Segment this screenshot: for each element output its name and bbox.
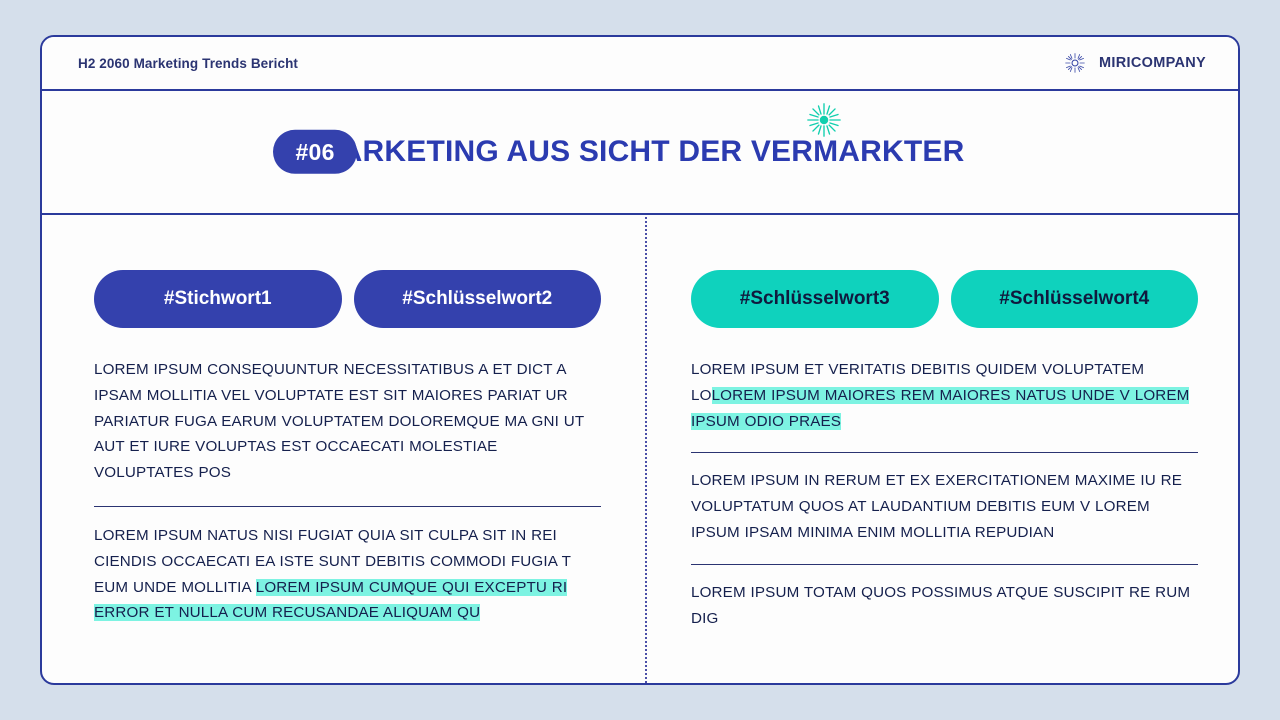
- title-group: MARKETING AUS SICHT DER VERMARKTER #06: [315, 137, 964, 167]
- tag-schluesselwort4[interactable]: #Schlüsselwort4: [951, 270, 1199, 328]
- divider-left-1: [94, 506, 601, 507]
- paragraph-left-1: LOREM IPSUM CONSEQUUNTUR NECESSITATIBUS …: [94, 357, 601, 486]
- text-block-right-1: LOREM IPSUM ET VERITATIS DEBITIS QUIDEM …: [691, 357, 1198, 438]
- column-left: #Stichwort1 #Schlüsselwort2 LOREM IPSUM …: [42, 217, 645, 683]
- sunburst-logo-icon: [1064, 52, 1086, 74]
- tag-schluesselwort3[interactable]: #Schlüsselwort3: [691, 270, 939, 328]
- brand-lockup: MIRICOMPANY: [1064, 52, 1206, 74]
- document-title: H2 2060 Marketing Trends Bericht: [78, 56, 298, 71]
- paragraph-right-2-plain: LOREM IPSUM IN RERUM ET EX EXERCITATIONE…: [691, 472, 1182, 541]
- slide-card: H2 2060 Marketing Trends Bericht: [40, 35, 1240, 685]
- page-title: MARKETING AUS SICHT DER VERMARKTER: [315, 137, 964, 167]
- starburst-icon: [807, 103, 841, 137]
- paragraph-right-1-highlight: LOREM IPSUM MAIORES REM MAIORES NATUS UN…: [691, 387, 1189, 430]
- title-band: MARKETING AUS SICHT DER VERMARKTER #06: [42, 91, 1238, 215]
- text-block-right-2: LOREM IPSUM IN RERUM ET EX EXERCITATIONE…: [691, 468, 1198, 549]
- paragraph-right-3: LOREM IPSUM TOTAM QUOS POSSIMUS ATQUE SU…: [691, 580, 1198, 632]
- brand-name: MIRICOMPANY: [1099, 55, 1206, 71]
- paragraph-right-2: LOREM IPSUM IN RERUM ET EX EXERCITATIONE…: [691, 468, 1198, 545]
- tag-row-left: #Stichwort1 #Schlüsselwort2: [94, 270, 601, 328]
- divider-right-1: [691, 452, 1198, 453]
- paragraph-left-1-plain: LOREM IPSUM CONSEQUUNTUR NECESSITATIBUS …: [94, 361, 584, 481]
- paragraph-left-2: LOREM IPSUM NATUS NISI FUGIAT QUIA SIT C…: [94, 523, 601, 626]
- tag-schluesselwort2[interactable]: #Schlüsselwort2: [354, 270, 602, 328]
- content-area: #Stichwort1 #Schlüsselwort2 LOREM IPSUM …: [42, 217, 1238, 683]
- tag-row-right: #Schlüsselwort3 #Schlüsselwort4: [691, 270, 1198, 328]
- text-block-right-3: LOREM IPSUM TOTAM QUOS POSSIMUS ATQUE SU…: [691, 580, 1198, 636]
- paragraph-right-3-plain: LOREM IPSUM TOTAM QUOS POSSIMUS ATQUE SU…: [691, 584, 1190, 627]
- section-number-badge: #06: [273, 130, 356, 174]
- title-center-wrap: MARKETING AUS SICHT DER VERMARKTER #06: [42, 91, 1238, 213]
- text-block-left-2: LOREM IPSUM NATUS NISI FUGIAT QUIA SIT C…: [94, 523, 601, 630]
- text-block-left-1: LOREM IPSUM CONSEQUUNTUR NECESSITATIBUS …: [94, 357, 601, 490]
- column-right: #Schlüsselwort3 #Schlüsselwort4 LOREM IP…: [647, 217, 1238, 683]
- divider-right-2: [691, 564, 1198, 565]
- tag-stichwort1[interactable]: #Stichwort1: [94, 270, 342, 328]
- paragraph-right-1: LOREM IPSUM ET VERITATIS DEBITIS QUIDEM …: [691, 357, 1198, 434]
- slide-header-bar: H2 2060 Marketing Trends Bericht: [42, 37, 1238, 91]
